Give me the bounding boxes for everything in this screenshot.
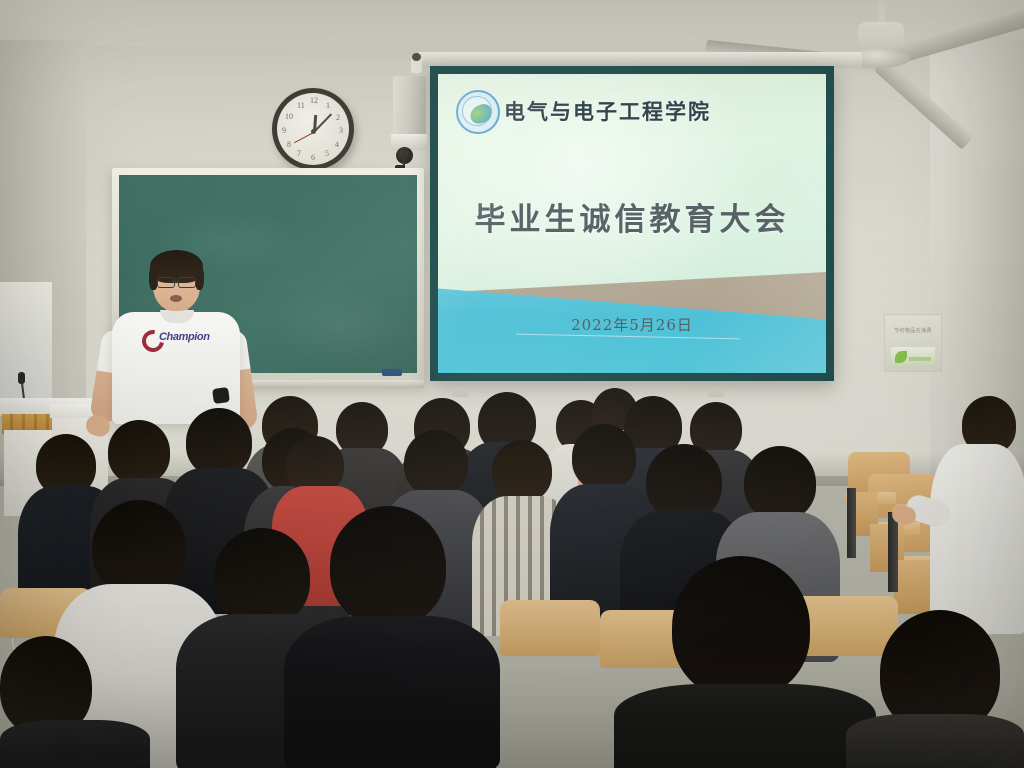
torso <box>930 444 1024 634</box>
blackboard-eraser <box>382 369 402 376</box>
roller-brand-label <box>806 54 862 63</box>
av-control-box[interactable] <box>393 76 426 136</box>
head <box>404 430 468 496</box>
torso <box>846 714 1024 768</box>
desk-leg <box>847 488 856 558</box>
clock-numeral: 9 <box>282 126 286 135</box>
wall-bracket <box>708 388 724 397</box>
chalk-smudge <box>269 285 409 365</box>
wall-notice: 节约物品在浪费 <box>884 314 942 372</box>
head <box>572 424 636 490</box>
clock-numeral: 5 <box>325 149 329 158</box>
head <box>492 440 552 502</box>
gooseneck-microphone[interactable] <box>18 372 25 384</box>
desk-panel <box>894 560 934 614</box>
projection-screen-frame: · · · · · · · 电气与电子工程学院 毕业生诚信教育大会 2022年5… <box>430 66 834 381</box>
shirt-logo: Champion <box>142 330 222 346</box>
clock-face: 12 1 2 3 4 5 6 7 8 9 10 11 <box>277 93 349 165</box>
clock-numeral: 6 <box>311 153 315 162</box>
clock-numeral: 11 <box>297 101 305 110</box>
photo-scene: 12 1 2 3 4 5 6 7 8 9 10 11 <box>0 0 1024 768</box>
clock-center-pin <box>311 129 316 134</box>
clock-numeral: 1 <box>326 101 330 110</box>
projection-screen[interactable]: · · · · · · · 电气与电子工程学院 毕业生诚信教育大会 2022年5… <box>438 74 826 373</box>
torso <box>0 720 150 768</box>
torso <box>614 684 876 768</box>
eyeglasses-icon <box>178 277 196 288</box>
head <box>186 408 252 476</box>
clock-numeral: 2 <box>336 113 340 122</box>
head <box>672 556 810 698</box>
camera-lens-icon <box>412 53 421 61</box>
seat-back <box>500 600 600 656</box>
clock-numeral: 3 <box>339 126 343 135</box>
shirt-logo-text: Champion <box>159 331 210 343</box>
wall-bracket <box>452 388 468 397</box>
wristwatch-icon <box>212 387 230 404</box>
wall-notice-bar <box>909 357 931 361</box>
head <box>744 446 816 520</box>
eyeglasses-bridge <box>173 281 178 282</box>
head <box>214 528 310 626</box>
clock-numeral: 7 <box>297 149 301 158</box>
presenter-hair-side <box>195 266 204 290</box>
presenter-mouth <box>170 295 182 302</box>
clock-numeral: 4 <box>335 140 339 149</box>
head <box>646 444 722 520</box>
head <box>330 506 446 626</box>
clock-numeral: 8 <box>287 140 291 149</box>
clock-numeral: 10 <box>285 112 293 121</box>
screen-sheen <box>438 74 826 373</box>
desk-leg <box>888 512 898 592</box>
clock-numeral: 12 <box>310 96 318 105</box>
torso <box>284 616 500 768</box>
wall-clock: 12 1 2 3 4 5 6 7 8 9 10 11 <box>272 88 354 170</box>
head <box>92 500 186 596</box>
lectern-back-cabinet <box>0 282 52 400</box>
head <box>108 420 170 484</box>
wall-notice-text: 节约物品在浪费 <box>891 327 935 334</box>
eyeglasses-icon <box>157 277 175 288</box>
